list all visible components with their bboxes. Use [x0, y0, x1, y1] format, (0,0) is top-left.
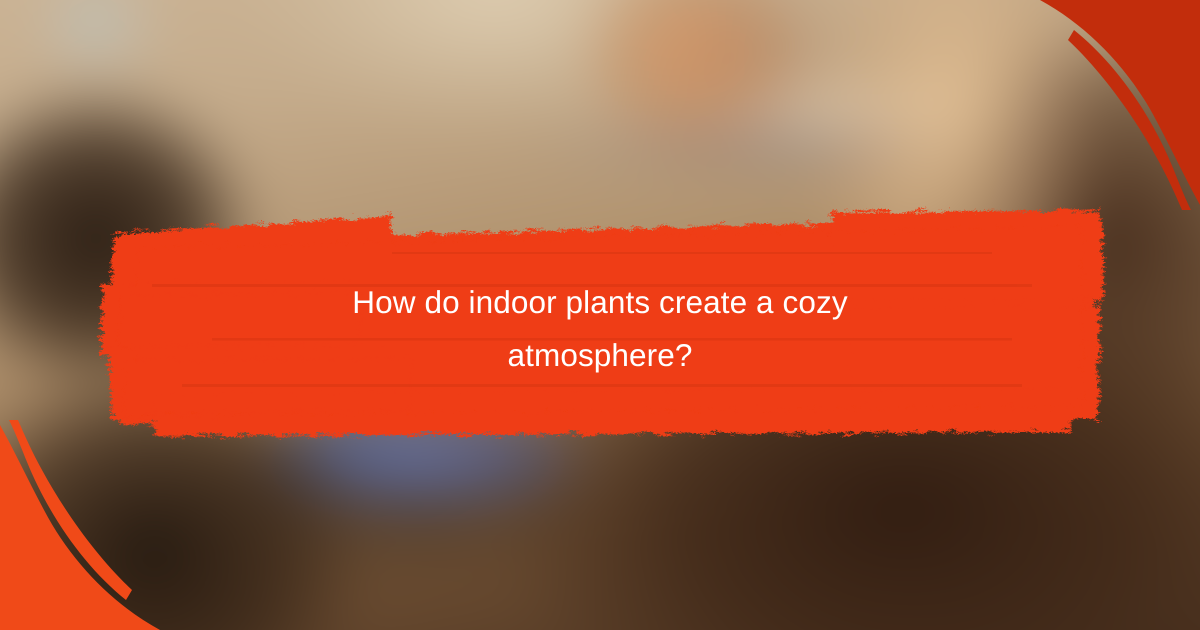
social-card: How do indoor plants create a cozy atmos… [0, 0, 1200, 630]
page-title: How do indoor plants create a cozy atmos… [210, 276, 990, 382]
